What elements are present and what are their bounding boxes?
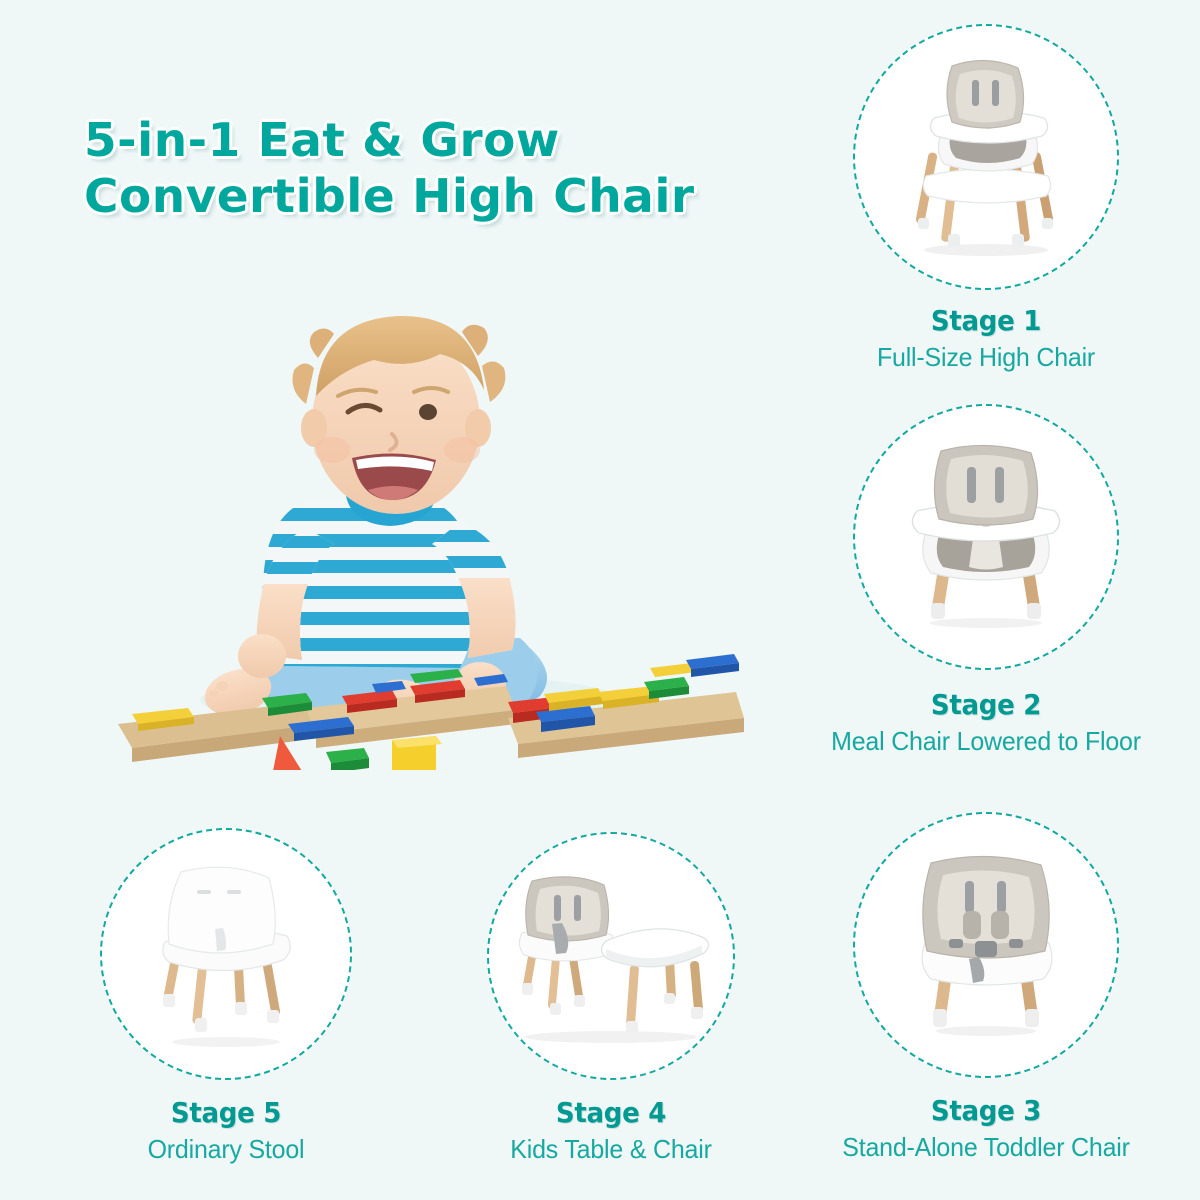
meal-chair-lowered-icon xyxy=(881,437,1091,637)
stage-3-caption: Stage 3 Stand-Alone Toddler Chair xyxy=(806,1094,1166,1163)
stage-4-description: Kids Table & Chair xyxy=(467,1134,755,1165)
stage-1-label: Stage 1 xyxy=(862,304,1109,337)
stage-5-caption: Stage 5 Ordinary Stool xyxy=(81,1096,371,1165)
stage-card-4: Stage 4 Kids Table & Chair xyxy=(487,832,735,1165)
stage-4-label: Stage 4 xyxy=(472,1096,751,1129)
stage-3-image-circle xyxy=(853,812,1119,1078)
stage-1-caption: Stage 1 Full-Size High Chair xyxy=(853,304,1119,373)
stage-card-3: Stage 3 Stand-Alone Toddler Chair xyxy=(853,812,1119,1163)
stage-2-caption: Stage 2 Meal Chair Lowered to Floor xyxy=(796,688,1176,757)
stage-5-label: Stage 5 xyxy=(91,1096,361,1129)
stage-5-description: Ordinary Stool xyxy=(87,1134,365,1165)
stage-2-label: Stage 2 xyxy=(809,688,1162,721)
stage-1-description: Full-Size High Chair xyxy=(858,342,1113,373)
ordinary-stool-icon xyxy=(131,854,321,1054)
stage-3-label: Stage 3 xyxy=(819,1094,1154,1127)
stage-2-image-circle xyxy=(853,404,1119,670)
page-title-line-1: 5-in-1 Eat & Grow xyxy=(84,112,778,168)
page-title: 5-in-1 Eat & Grow Convertible High Chair xyxy=(84,112,764,224)
stage-card-2: Stage 2 Meal Chair Lowered to Floor xyxy=(853,404,1119,757)
stage-5-image-circle xyxy=(100,828,352,1080)
stage-2-description: Meal Chair Lowered to Floor xyxy=(804,726,1169,757)
hero-photo-toddler xyxy=(110,300,750,770)
stage-4-image-circle xyxy=(487,832,735,1080)
stage-4-caption: Stage 4 Kids Table & Chair xyxy=(461,1096,761,1165)
stage-card-1: Stage 1 Full-Size High Chair xyxy=(853,24,1119,373)
full-size-high-chair-icon xyxy=(886,52,1086,262)
kids-table-and-chair-icon xyxy=(506,861,716,1051)
stage-3-description: Stand-Alone Toddler Chair xyxy=(813,1132,1159,1163)
page-title-line-2: Convertible High Chair xyxy=(84,168,778,224)
stage-card-5: Stage 5 Ordinary Stool xyxy=(100,828,352,1165)
stage-1-image-circle xyxy=(853,24,1119,290)
stand-alone-toddler-chair-icon xyxy=(891,845,1081,1045)
